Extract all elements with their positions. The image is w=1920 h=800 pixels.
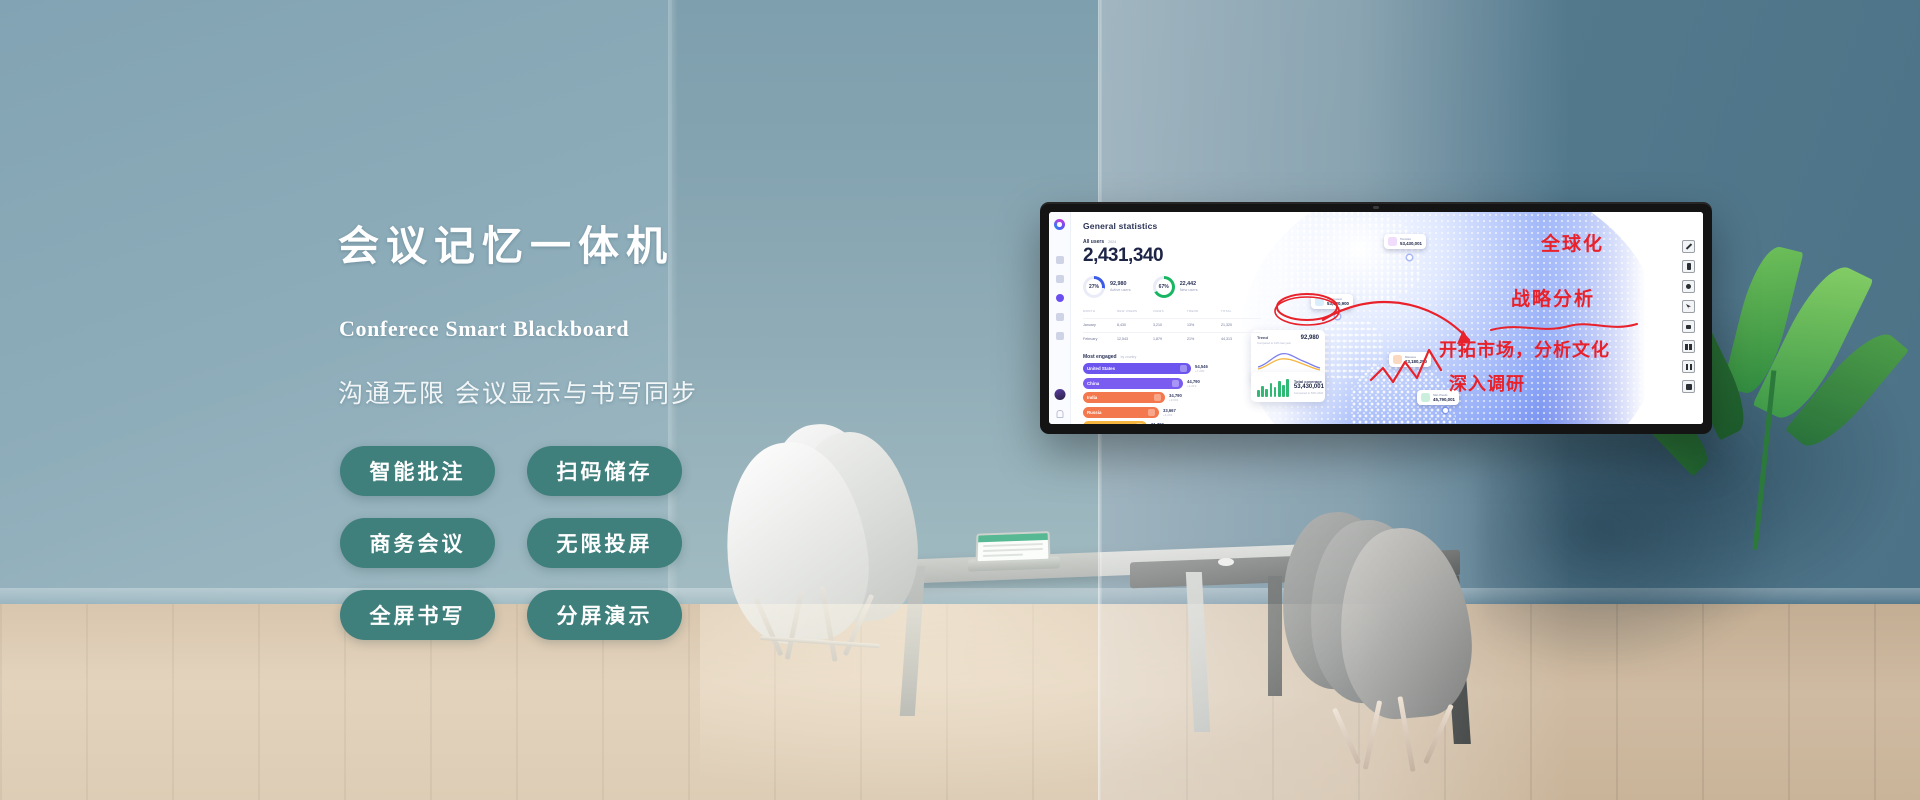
table-puck (1218, 558, 1234, 566)
globe-icon[interactable] (1056, 294, 1064, 302)
map-pin-manaus[interactable]: Manaus 23,180,290 (1389, 352, 1431, 367)
pin-icon (1388, 237, 1397, 246)
blackboard-screen[interactable]: Toronto 53,430,001 Vancouver 53,930,900 … (1049, 212, 1703, 424)
donut-percent: 67% (1159, 284, 1169, 290)
country-flag-icon (1154, 394, 1161, 401)
country-name: Russia (1087, 410, 1101, 415)
country-name: United States (1087, 366, 1115, 371)
donut-label: Active users (1110, 288, 1131, 292)
country-bar: France (1083, 421, 1147, 424)
pin-icon (1421, 393, 1430, 402)
country-flag-icon (1172, 380, 1179, 387)
sidebar-nav[interactable] (1056, 256, 1064, 340)
database-icon[interactable] (1056, 313, 1064, 321)
annotation-globalization: 全球化 (1541, 229, 1604, 256)
country-name: China (1087, 381, 1099, 386)
pin-icon (1393, 355, 1402, 364)
hero-tagline: 沟通无限 会议显示与书写同步 (338, 374, 698, 410)
feature-pill-4[interactable]: 无限投屏 (527, 518, 682, 568)
page-subtitle: Conferece Smart Blackboard (339, 316, 629, 342)
donut-value: 22,442 (1180, 281, 1198, 287)
donut-label: New users (1180, 288, 1198, 292)
pointer-icon[interactable] (1682, 300, 1695, 313)
feature-pill-6[interactable]: 分屏演示 (527, 590, 682, 640)
pin-value: 23,180,290 (1405, 359, 1427, 364)
smart-blackboard[interactable]: Toronto 53,430,001 Vancouver 53,930,900 … (1040, 202, 1712, 434)
country-name: India (1087, 395, 1097, 400)
table-header-row: MONTH NEW USERS VIEWS TREND TOTAL (1083, 309, 1261, 313)
country-row[interactable]: United States54,546+7,230 (1083, 363, 1275, 374)
donut-new-users: 67% 22,442New users (1153, 276, 1198, 298)
country-flag-icon (1148, 409, 1155, 416)
country-value: 54,546+7,230 (1195, 364, 1208, 373)
donut-value: 92,980 (1110, 281, 1131, 287)
table-row: January 8,430 3,210 13% 21,320 (1083, 318, 1261, 327)
table-row: February 12,543 1,879 21% 44,313 (1083, 332, 1261, 341)
general-statistics-panel: General statistics All users 2024 2,431,… (1083, 221, 1275, 424)
pin-value: 53,930,900 (1327, 301, 1349, 306)
country-value: 21,709+902 (1151, 422, 1164, 424)
dashboard-main: Toronto 53,430,001 Vancouver 53,930,900 … (1071, 212, 1703, 424)
donut-percent: 27% (1089, 284, 1099, 290)
country-row[interactable]: Russia33,667+4,201 (1083, 407, 1275, 418)
app-logo-icon (1054, 219, 1065, 230)
map-pin-vancouver[interactable]: Vancouver 53,930,900 (1311, 294, 1353, 309)
country-flag-icon (1180, 365, 1187, 372)
country-value: 33,667+4,201 (1163, 408, 1176, 417)
save-icon[interactable] (1682, 380, 1695, 393)
tablet-screen (976, 531, 1051, 563)
country-value: 44,790+1,213 (1187, 379, 1200, 388)
hero-copy: 会议记忆一体机 Conferece Smart Blackboard 沟通无限 … (0, 0, 720, 800)
feature-pill-5[interactable]: 全屏书写 (340, 590, 495, 640)
all-users-value: 2,431,340 (1083, 246, 1275, 266)
pin-value: 45,790,001 (1433, 397, 1455, 402)
qrcode-icon[interactable] (1682, 360, 1695, 373)
table-leg-right-2 (1268, 576, 1282, 696)
settings-icon[interactable] (1056, 332, 1064, 340)
all-users-period[interactable]: 2024 (1108, 240, 1116, 244)
grid-icon[interactable] (1056, 256, 1064, 264)
donut-chart: 67% (1153, 276, 1175, 298)
country-bar: United States (1083, 363, 1191, 374)
country-row[interactable]: France21,709+902 (1083, 421, 1275, 424)
user-avatar[interactable] (1054, 389, 1065, 400)
card-value: 92,980 (1301, 335, 1319, 341)
scene: Toronto 53,430,001 Vancouver 53,930,900 … (0, 0, 1920, 800)
page-title: General statistics (1083, 221, 1275, 231)
pin-icon (1315, 297, 1324, 306)
page-title: 会议记忆一体机 (338, 212, 674, 272)
country-bar: India (1083, 392, 1165, 403)
card-value: 53,430,001 (1294, 384, 1324, 390)
annotation-research: 深入调研 (1449, 370, 1525, 396)
donut-active-users: 27% 92,980Active users (1083, 276, 1131, 298)
split-screen-icon[interactable] (1682, 340, 1695, 353)
feature-pill-list[interactable]: 智能批注扫码储存商务会议无限投屏全屏书写分屏演示 (340, 446, 712, 640)
country-bar: Russia (1083, 407, 1159, 418)
feature-pill-1[interactable]: 智能批注 (340, 446, 495, 496)
country-row[interactable]: China44,790+1,213 (1083, 378, 1275, 389)
shape-icon[interactable] (1682, 280, 1695, 293)
most-engaged-panel: Most engaged by country United States54,… (1083, 354, 1275, 424)
chart-icon[interactable] (1056, 275, 1064, 283)
country-value: 34,790+9,001 (1169, 393, 1182, 402)
country-list: United States54,546+7,230China44,790+1,2… (1083, 363, 1275, 424)
notifications-icon[interactable] (1056, 410, 1063, 418)
country-flag-icon (1136, 423, 1143, 424)
monthly-stats-table: MONTH NEW USERS VIEWS TREND TOTAL Januar… (1083, 309, 1261, 341)
most-engaged-subtitle: by country (1121, 355, 1137, 359)
country-row[interactable]: India34,790+9,001 (1083, 392, 1275, 403)
pen-icon[interactable] (1682, 240, 1695, 253)
eraser-icon[interactable] (1682, 260, 1695, 273)
feature-pill-2[interactable]: 扫码储存 (527, 446, 682, 496)
annotation-strategy: 战略分析 (1511, 284, 1595, 311)
donut-row: 27% 92,980Active users 67% 22,442New use… (1083, 276, 1275, 298)
card-subtitle: Compared to 53% 2021 (1294, 391, 1324, 395)
pin-value: 53,430,001 (1400, 241, 1422, 246)
donut-chart: 27% (1083, 276, 1105, 298)
feature-pill-3[interactable]: 商务会议 (340, 518, 495, 568)
country-bar: China (1083, 378, 1183, 389)
blackboard-toolbar[interactable] (1682, 240, 1695, 393)
map-pin-toronto[interactable]: Toronto 53,430,001 (1384, 234, 1426, 249)
lock-icon[interactable] (1682, 320, 1695, 333)
dashboard-sidebar[interactable] (1049, 212, 1071, 424)
most-engaged-title: Most engaged (1083, 354, 1117, 360)
annotation-market: 开拓市场，分析文化 (1439, 336, 1610, 362)
